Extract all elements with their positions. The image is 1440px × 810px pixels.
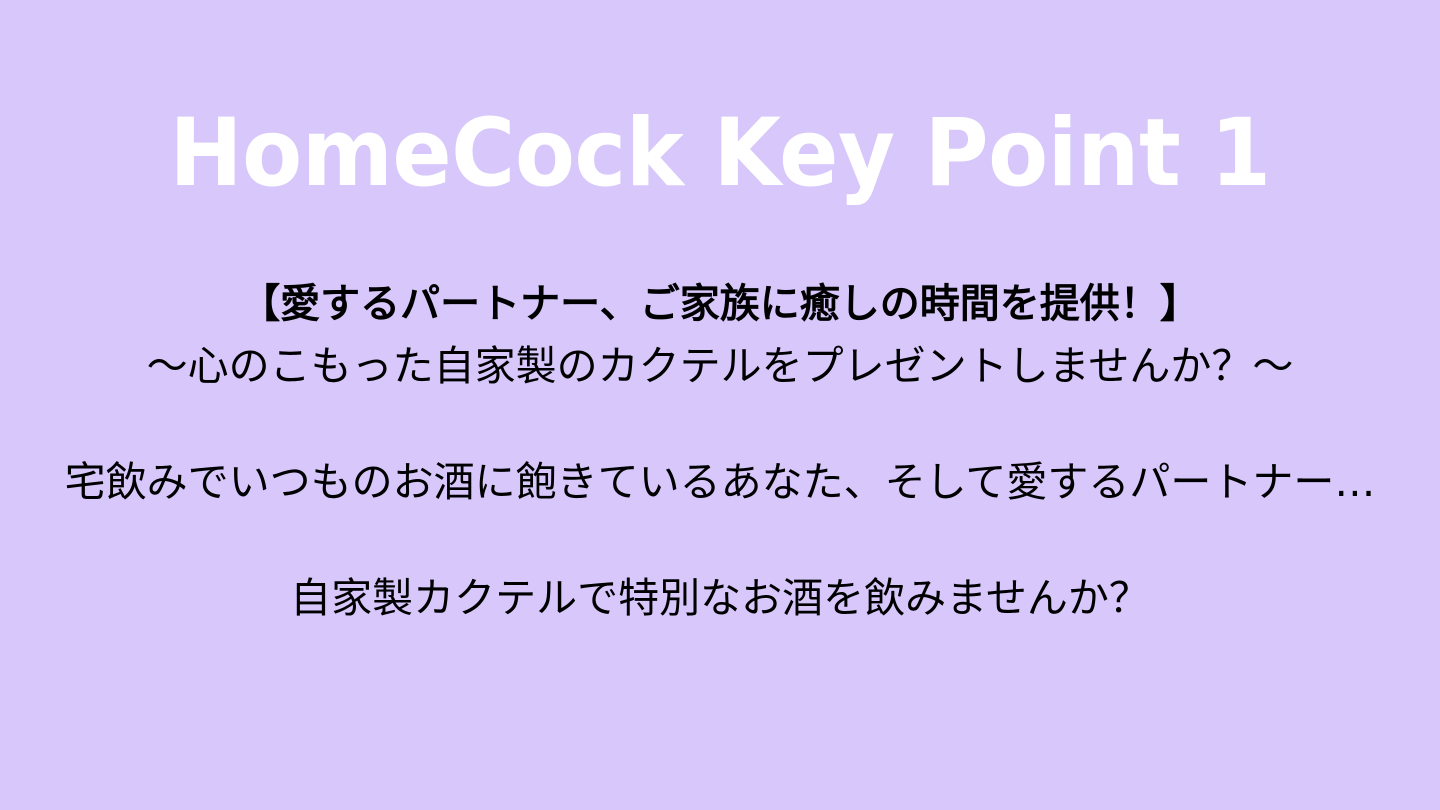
body-headline: 【愛するパートナー、ご家族に癒しの時間を提供！】 <box>0 276 1440 332</box>
body-spacer-1 <box>0 395 1440 453</box>
body-paragraph-2: 自家製カクテルで特別なお酒を飲みませんか？ <box>0 569 1440 627</box>
page-title: HomeCock Key Point 1 <box>50 104 1389 204</box>
body-spacer-2 <box>0 511 1440 569</box>
body-paragraph-1: 宅飲みでいつものお酒に飽きているあなた、そして愛するパートナー… <box>0 453 1440 511</box>
slide-body: 【愛するパートナー、ご家族に癒しの時間を提供！】 〜心のこもった自家製のカクテル… <box>0 276 1440 627</box>
body-subheadline: 〜心のこもった自家製のカクテルをプレゼントしませんか？〜 <box>0 337 1440 395</box>
presentation-slide: HomeCock Key Point 1 【愛するパートナー、ご家族に癒しの時間… <box>0 0 1440 810</box>
